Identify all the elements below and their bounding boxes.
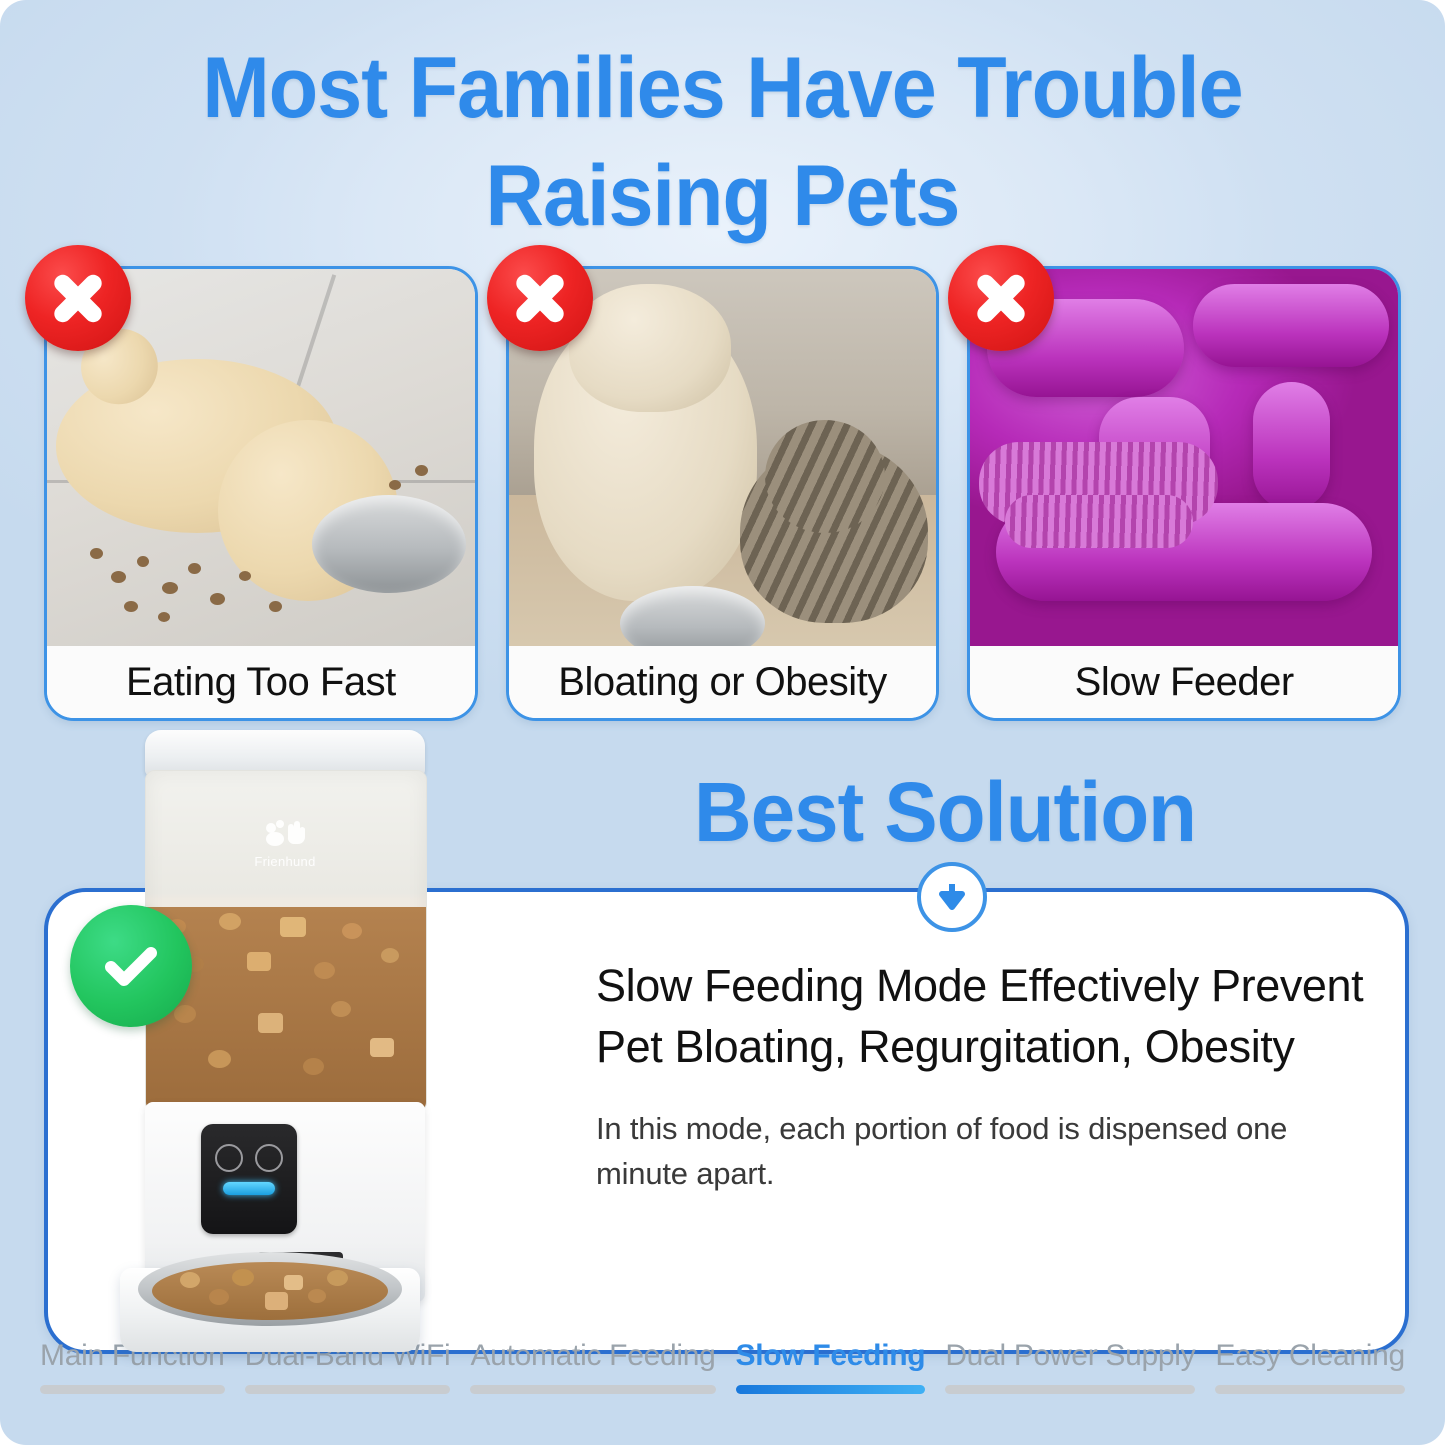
x-mark-icon <box>25 245 131 351</box>
page-title-line1: Most Families Have Trouble <box>43 34 1401 142</box>
solution-text-block: Slow Feeding Mode Effectively Prevent Pe… <box>596 955 1386 1197</box>
product-image-pet-feeder: Frienhund <box>120 730 450 1350</box>
down-arrow-icon <box>917 862 987 932</box>
solution-subtext: In this mode, each portion of food is di… <box>596 1107 1386 1197</box>
tab-underline <box>945 1385 1195 1394</box>
problem-card-eating-too-fast[interactable]: Eating Too Fast <box>44 266 478 721</box>
problem-card-row: Eating Too Fast Bloating or Obesity <box>44 266 1401 721</box>
problem-card-bloating-or-obesity[interactable]: Bloating or Obesity <box>506 266 940 721</box>
feeder-bowl <box>138 1252 402 1326</box>
check-mark-icon <box>70 905 192 1027</box>
tab-easy-cleaning[interactable]: Easy Cleaning <box>1215 1339 1405 1394</box>
paw-hand-icon <box>262 817 308 851</box>
problem-card-slow-feeder[interactable]: Slow Feeder <box>967 266 1401 721</box>
tab-underline <box>40 1385 225 1394</box>
best-solution-heading: Best Solution <box>617 770 1273 854</box>
page-title: Most Families Have Trouble Raising Pets <box>43 34 1401 251</box>
page-title-line2: Raising Pets <box>43 142 1401 250</box>
problem-card-label: Bloating or Obesity <box>509 646 937 718</box>
feeder-control-panel[interactable] <box>201 1124 297 1234</box>
brand-logo: Frienhund <box>220 817 350 869</box>
status-indicator-led <box>223 1182 275 1195</box>
brand-name: Frienhund <box>220 854 350 869</box>
tab-underline <box>245 1385 451 1394</box>
tab-underline <box>1215 1385 1405 1394</box>
solution-headline: Slow Feeding Mode Effectively Prevent Pe… <box>596 955 1386 1077</box>
tab-dual-power-supply[interactable]: Dual Power Supply <box>945 1339 1195 1394</box>
x-mark-icon <box>487 245 593 351</box>
tab-automatic-feeding[interactable]: Automatic Feeding <box>470 1339 715 1394</box>
x-mark-icon <box>948 245 1054 351</box>
tab-slow-feeding[interactable]: Slow Feeding <box>736 1339 926 1394</box>
infographic-canvas: Most Families Have Trouble Raising Pets <box>0 0 1445 1445</box>
problem-card-label: Slow Feeder <box>970 646 1398 718</box>
power-icon[interactable] <box>215 1144 243 1172</box>
tab-underline-active <box>736 1385 926 1394</box>
tab-underline <box>470 1385 715 1394</box>
feed-icon[interactable] <box>255 1144 283 1172</box>
problem-card-label: Eating Too Fast <box>47 646 475 718</box>
